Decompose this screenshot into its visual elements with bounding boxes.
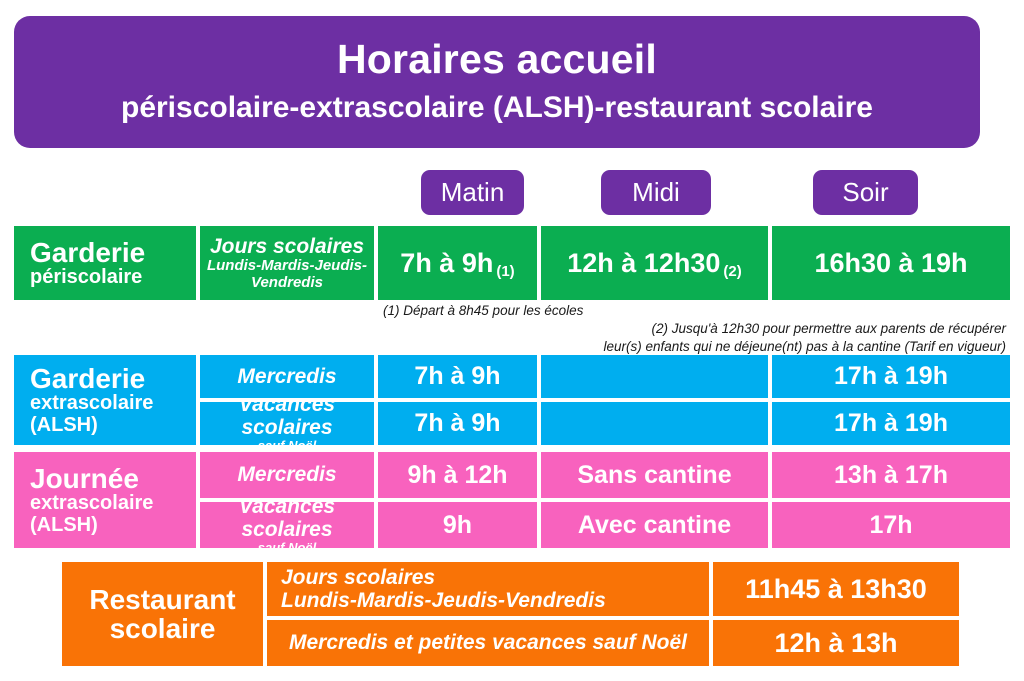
- time-value-matin: 7h à 9h: [400, 248, 493, 278]
- time-cell-journee-mercredis-matin: 9h à 12h: [378, 452, 537, 498]
- when-detail: Lundis-Mardis-Jeudis-Vendredis: [204, 258, 370, 291]
- service-title-line-2: scolaire: [110, 614, 216, 643]
- service-label-restaurant-scolaire: Restaurant scolaire: [62, 562, 263, 666]
- time-value: 12h à 13h: [774, 629, 897, 657]
- service-subtitle-line-2: (ALSH): [30, 515, 98, 536]
- service-title-line-1: Restaurant: [89, 585, 235, 614]
- time-value-midi: 12h à 12h30: [567, 248, 720, 278]
- when-line-1: Mercredis et petites vacances sauf Noël: [289, 631, 687, 654]
- when-title: Jours scolaires: [210, 235, 364, 258]
- cantine-value-midi: Avec cantine: [578, 512, 731, 538]
- time-cell-journee-vacances-midi: Avec cantine: [541, 502, 768, 548]
- time-cell-journee-mercredis-soir: 13h à 17h: [772, 452, 1010, 498]
- time-value-soir: 17h à 19h: [834, 410, 948, 436]
- time-cell-journee-vacances-soir: 17h: [772, 502, 1010, 548]
- period-badge-matin-label: Matin: [441, 177, 505, 208]
- time-value-soir: 17h: [869, 512, 912, 538]
- page-title: Horaires accueil: [337, 38, 657, 81]
- schedule-block-garderie-extrascolaire: Garderie extrascolaire (ALSH) Mercredis …: [14, 355, 1010, 445]
- time-cell-journee-vacances-matin: 9h: [378, 502, 537, 548]
- period-badge-midi: Midi: [601, 170, 711, 215]
- schedule-block-restaurant-scolaire: Restaurant scolaire Jours scolaires Lund…: [62, 562, 955, 666]
- service-subtitle-line-2: (ALSH): [30, 415, 98, 436]
- when-line-2: Lundis-Mardis-Jeudis-Vendredis: [281, 589, 606, 612]
- service-title: Garderie: [30, 238, 145, 267]
- time-value-soir: 17h à 19h: [834, 363, 948, 389]
- when-cell-mercredis-petites-vacances: Mercredis et petites vacances sauf Noël: [267, 620, 709, 666]
- time-cell-extrascolaire-mercredis-midi: [541, 355, 768, 398]
- when-cell-vacances-scolaires: Vacances scolaires sauf Noël: [200, 502, 374, 548]
- footnote-1-text: (1) Départ à 8h45 pour les écoles: [383, 302, 583, 320]
- time-value-matin: 9h: [443, 512, 472, 538]
- when-title: Vacances scolaires: [204, 402, 370, 439]
- when-title: Mercredis: [237, 365, 336, 388]
- time-value-matin: 9h à 12h: [407, 462, 507, 488]
- schedule-block-garderie-periscolaire: Garderie périscolaire Jours scolaires Lu…: [14, 226, 1010, 300]
- service-label-garderie-extrascolaire: Garderie extrascolaire (ALSH): [14, 355, 196, 445]
- when-cell-jours-scolaires: Jours scolaires Lundis-Mardis-Jeudis-Ven…: [200, 226, 374, 300]
- time-value-soir: 16h30 à 19h: [814, 249, 967, 277]
- page-title-banner: Horaires accueil périscolaire-extrascola…: [14, 16, 980, 148]
- service-subtitle-line-1: extrascolaire: [30, 493, 153, 514]
- time-cell-periscolaire-midi: 12h à 12h30(2): [541, 226, 768, 300]
- footnote-2-line-2: leur(s) enfants qui ne déjeune(nt) pas à…: [604, 338, 1006, 356]
- when-note: sauf Noël: [258, 541, 317, 548]
- period-badge-soir-label: Soir: [842, 177, 888, 208]
- when-cell-vacances-scolaires: Vacances scolaires sauf Noël: [200, 402, 374, 445]
- period-badge-matin: Matin: [421, 170, 524, 215]
- service-label-journee-extrascolaire: Journée extrascolaire (ALSH): [14, 452, 196, 548]
- when-title: Mercredis: [237, 463, 336, 486]
- time-cell-periscolaire-soir: 16h30 à 19h: [772, 226, 1010, 300]
- time-cell-extrascolaire-mercredis-soir: 17h à 19h: [772, 355, 1010, 398]
- service-title: Journée: [30, 464, 139, 493]
- footnote-ref-1: (1): [496, 263, 514, 280]
- time-cell-restaurant-jours-scolaires: 11h45 à 13h30: [713, 562, 959, 616]
- when-cell-jours-scolaires: Jours scolaires Lundis-Mardis-Jeudis-Ven…: [267, 562, 709, 616]
- time-cell-periscolaire-matin: 7h à 9h(1): [378, 226, 537, 300]
- time-cell-journee-mercredis-midi: Sans cantine: [541, 452, 768, 498]
- footnote-2-line-1: (2) Jusqu'à 12h30 pour permettre aux par…: [604, 320, 1006, 338]
- schedule-block-journee-extrascolaire: Journée extrascolaire (ALSH) Mercredis 9…: [14, 452, 1010, 548]
- cantine-value-midi: Sans cantine: [577, 462, 731, 488]
- period-badge-soir: Soir: [813, 170, 918, 215]
- time-value-soir: 13h à 17h: [834, 462, 948, 488]
- service-label-garderie-periscolaire: Garderie périscolaire: [14, 226, 196, 300]
- when-line-1: Jours scolaires: [281, 566, 435, 589]
- time-value: 11h45 à 13h30: [745, 575, 927, 603]
- service-title: Garderie: [30, 364, 145, 393]
- time-cell-extrascolaire-mercredis-matin: 7h à 9h: [378, 355, 537, 398]
- period-badge-midi-label: Midi: [632, 177, 680, 208]
- time-cell-extrascolaire-vacances-matin: 7h à 9h: [378, 402, 537, 445]
- footnote-2: (2) Jusqu'à 12h30 pour permettre aux par…: [604, 320, 1006, 356]
- time-value-matin: 7h à 9h: [414, 410, 500, 436]
- time-cell-extrascolaire-vacances-midi: [541, 402, 768, 445]
- when-note: sauf Noël: [258, 439, 317, 445]
- service-subtitle-line-1: extrascolaire: [30, 393, 153, 414]
- when-title: Vacances scolaires: [204, 502, 370, 541]
- time-value-matin: 7h à 9h: [414, 363, 500, 389]
- service-subtitle: périscolaire: [30, 267, 142, 288]
- time-cell-extrascolaire-vacances-soir: 17h à 19h: [772, 402, 1010, 445]
- footnote-ref-2: (2): [723, 263, 741, 280]
- page-subtitle: périscolaire-extrascolaire (ALSH)-restau…: [121, 91, 873, 126]
- when-cell-mercredis: Mercredis: [200, 355, 374, 398]
- time-cell-restaurant-mercredis: 12h à 13h: [713, 620, 959, 666]
- when-cell-mercredis: Mercredis: [200, 452, 374, 498]
